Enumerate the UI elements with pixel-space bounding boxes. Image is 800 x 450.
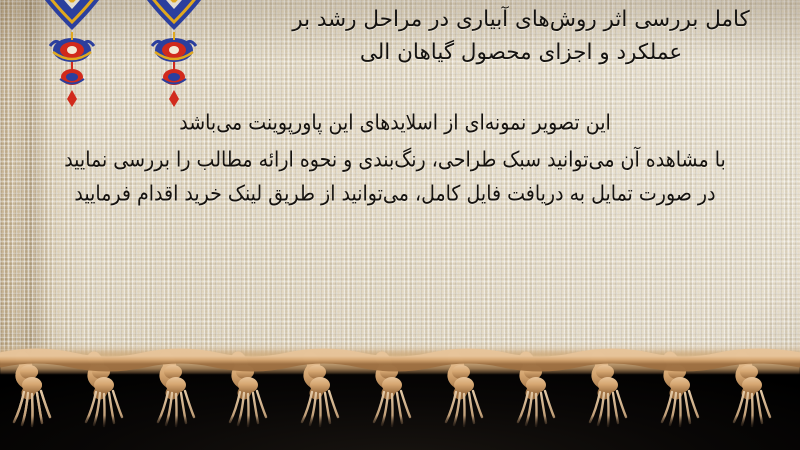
body-line-2: با مشاهده آن می‌توانید سبک طراحی، رنگ‌بن… — [0, 145, 790, 175]
title-line-2: عملکرد و اجزای محصول گیاهان الی — [250, 37, 792, 70]
slide-title: کامل بررسی اثر روش‌های آبیاری در مراحل ر… — [0, 4, 792, 69]
title-line-1: کامل بررسی اثر روش‌های آبیاری در مراحل ر… — [250, 4, 792, 37]
slide-body: این تصویر نمونه‌ای از اسلایدهای این پاور… — [0, 108, 790, 206]
knotted-tassel-fringe-icon — [0, 342, 800, 450]
body-line-1: این تصویر نمونه‌ای از اسلایدهای این پاور… — [0, 108, 790, 138]
body-line-3: در صورت تمایل به دریافت فایل کامل، می‌تو… — [0, 179, 790, 209]
slide-canvas: کامل بررسی اثر روش‌های آبیاری در مراحل ر… — [0, 0, 800, 450]
fringe-zone — [0, 342, 800, 450]
